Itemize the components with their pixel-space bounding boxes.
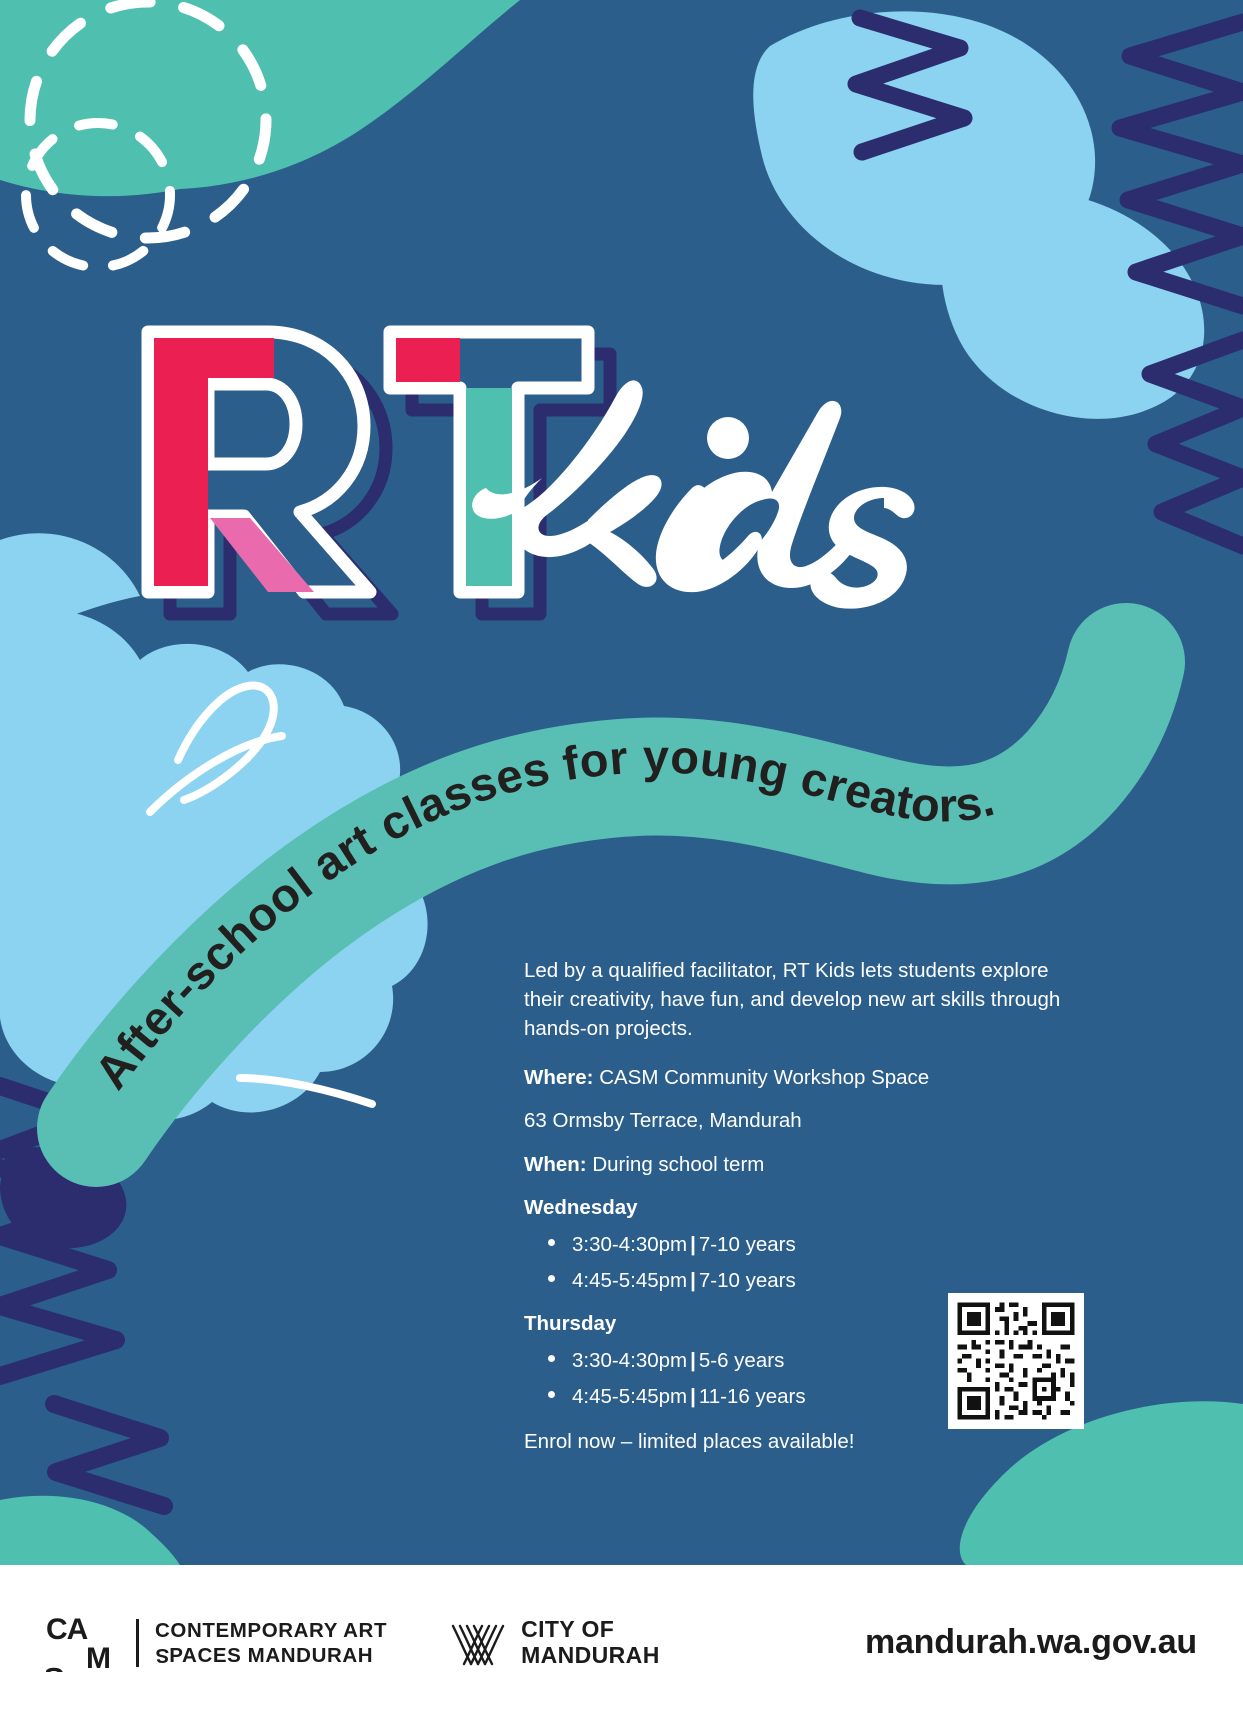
call-to-action: Enrol now – limited places available! bbox=[524, 1427, 1084, 1456]
session-separator: | bbox=[687, 1269, 699, 1292]
footer-bar: CA S M CONTEMPORARY ART SPACES MANDURAH bbox=[0, 1565, 1243, 1720]
session-list-wednesday: 3:30-4:30pm|7-10 years 4:45-5:45pm|7-10 … bbox=[524, 1230, 1084, 1295]
city-of-mandurah-logo[interactable]: CITY OF MANDURAH bbox=[449, 1617, 660, 1668]
city-line-2: MANDURAH bbox=[521, 1643, 660, 1668]
address-line: 63 Ormsby Terrace, Mandurah bbox=[524, 1106, 1084, 1135]
svg-text:M: M bbox=[86, 1642, 110, 1672]
session-time: 3:30-4:30pm bbox=[572, 1349, 687, 1372]
casm-line-2: SPACES MANDURAH bbox=[155, 1643, 387, 1668]
casm-line-1: CONTEMPORARY ART bbox=[155, 1618, 387, 1643]
casm-divider bbox=[136, 1619, 139, 1667]
session-item: 3:30-4:30pm|7-10 years bbox=[548, 1230, 1084, 1259]
session-time: 4:45-5:45pm bbox=[572, 1269, 687, 1292]
rt-kids-logo bbox=[118, 292, 998, 622]
city-line-1: CITY OF bbox=[521, 1617, 660, 1642]
session-item: 4:45-5:45pm|7-10 years bbox=[548, 1266, 1084, 1295]
casm-monogram-icon: CA S M bbox=[46, 1614, 120, 1672]
when-line: When: During school term bbox=[524, 1150, 1084, 1179]
where-line: Where: CASM Community Workshop Space bbox=[524, 1063, 1084, 1092]
casm-line-2-rest: PACES MANDURAH bbox=[169, 1643, 373, 1668]
qr-code[interactable] bbox=[948, 1293, 1084, 1429]
session-ages: 11-16 years bbox=[699, 1385, 806, 1408]
when-value: During school term bbox=[592, 1153, 764, 1176]
session-ages: 7-10 years bbox=[699, 1269, 796, 1292]
casm-flipped-s: S bbox=[155, 1643, 169, 1668]
rt-kids-logo-svg bbox=[118, 292, 998, 622]
session-separator: | bbox=[687, 1233, 699, 1256]
casm-wordmark: CONTEMPORARY ART SPACES MANDURAH bbox=[155, 1618, 387, 1668]
where-value: CASM Community Workshop Space bbox=[599, 1066, 929, 1089]
city-wordmark: CITY OF MANDURAH bbox=[521, 1617, 660, 1668]
qr-code-icon[interactable] bbox=[948, 1293, 1084, 1429]
session-separator: | bbox=[687, 1385, 699, 1408]
where-label: Where: bbox=[524, 1066, 593, 1089]
day-heading-wednesday: Wednesday bbox=[524, 1193, 1084, 1222]
session-separator: | bbox=[687, 1349, 699, 1372]
intro-paragraph: Led by a qualified facilitator, RT Kids … bbox=[524, 956, 1084, 1043]
session-ages: 7-10 years bbox=[699, 1233, 796, 1256]
svg-text:S: S bbox=[46, 1661, 64, 1672]
poster-root: After-school art classes for young creat… bbox=[0, 0, 1243, 1720]
mandurah-waves-icon bbox=[449, 1618, 507, 1668]
session-time: 3:30-4:30pm bbox=[572, 1233, 687, 1256]
bullet-icon bbox=[548, 1275, 555, 1282]
session-ages: 5-6 years bbox=[699, 1349, 784, 1372]
casm-logo[interactable]: CA S M CONTEMPORARY ART SPACES MANDURAH bbox=[46, 1614, 387, 1672]
bullet-icon bbox=[548, 1355, 555, 1362]
website-url[interactable]: mandurah.wa.gov.au bbox=[865, 1623, 1197, 1662]
bullet-icon bbox=[548, 1391, 555, 1398]
when-label: When: bbox=[524, 1153, 587, 1176]
bullet-icon bbox=[548, 1239, 555, 1246]
svg-text:CA: CA bbox=[46, 1614, 88, 1646]
session-time: 4:45-5:45pm bbox=[572, 1385, 687, 1408]
